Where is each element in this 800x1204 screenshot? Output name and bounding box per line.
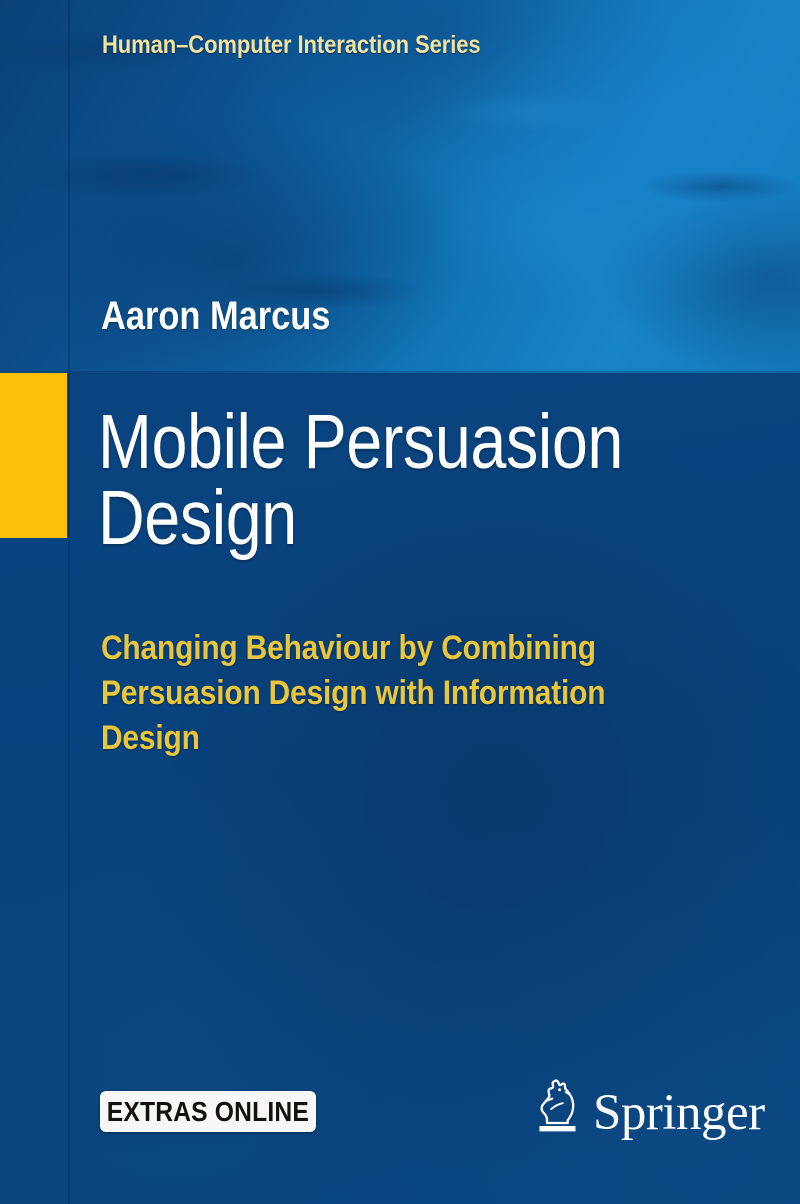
- publisher-logo: Springer: [534, 1079, 765, 1135]
- book-title-line-2: Design: [98, 480, 652, 556]
- series-title: Human–Computer Interaction Series: [102, 31, 481, 60]
- book-subtitle-line-3: Design: [101, 716, 699, 761]
- background-seam-divider: [0, 371, 800, 374]
- extras-online-badge: EXTRAS ONLINE: [100, 1091, 316, 1132]
- yellow-accent-block: [0, 373, 67, 538]
- book-subtitle-line-2: Persuasion Design with Information: [101, 671, 699, 716]
- springer-wordmark: Springer: [593, 1088, 765, 1139]
- book-title: Mobile Persuasion Design: [98, 404, 652, 556]
- book-cover: Human–Computer Interaction Series Aaron …: [0, 0, 800, 1204]
- book-title-line-1: Mobile Persuasion: [98, 404, 652, 480]
- book-subtitle: Changing Behaviour by Combining Persuasi…: [101, 626, 699, 761]
- book-subtitle-line-1: Changing Behaviour by Combining: [101, 626, 699, 671]
- springer-knight-icon: [534, 1079, 581, 1135]
- extras-online-badge-label: EXTRAS ONLINE: [107, 1096, 309, 1128]
- vertical-margin-rule: [68, 0, 70, 1204]
- author-name: Aaron Marcus: [101, 294, 330, 339]
